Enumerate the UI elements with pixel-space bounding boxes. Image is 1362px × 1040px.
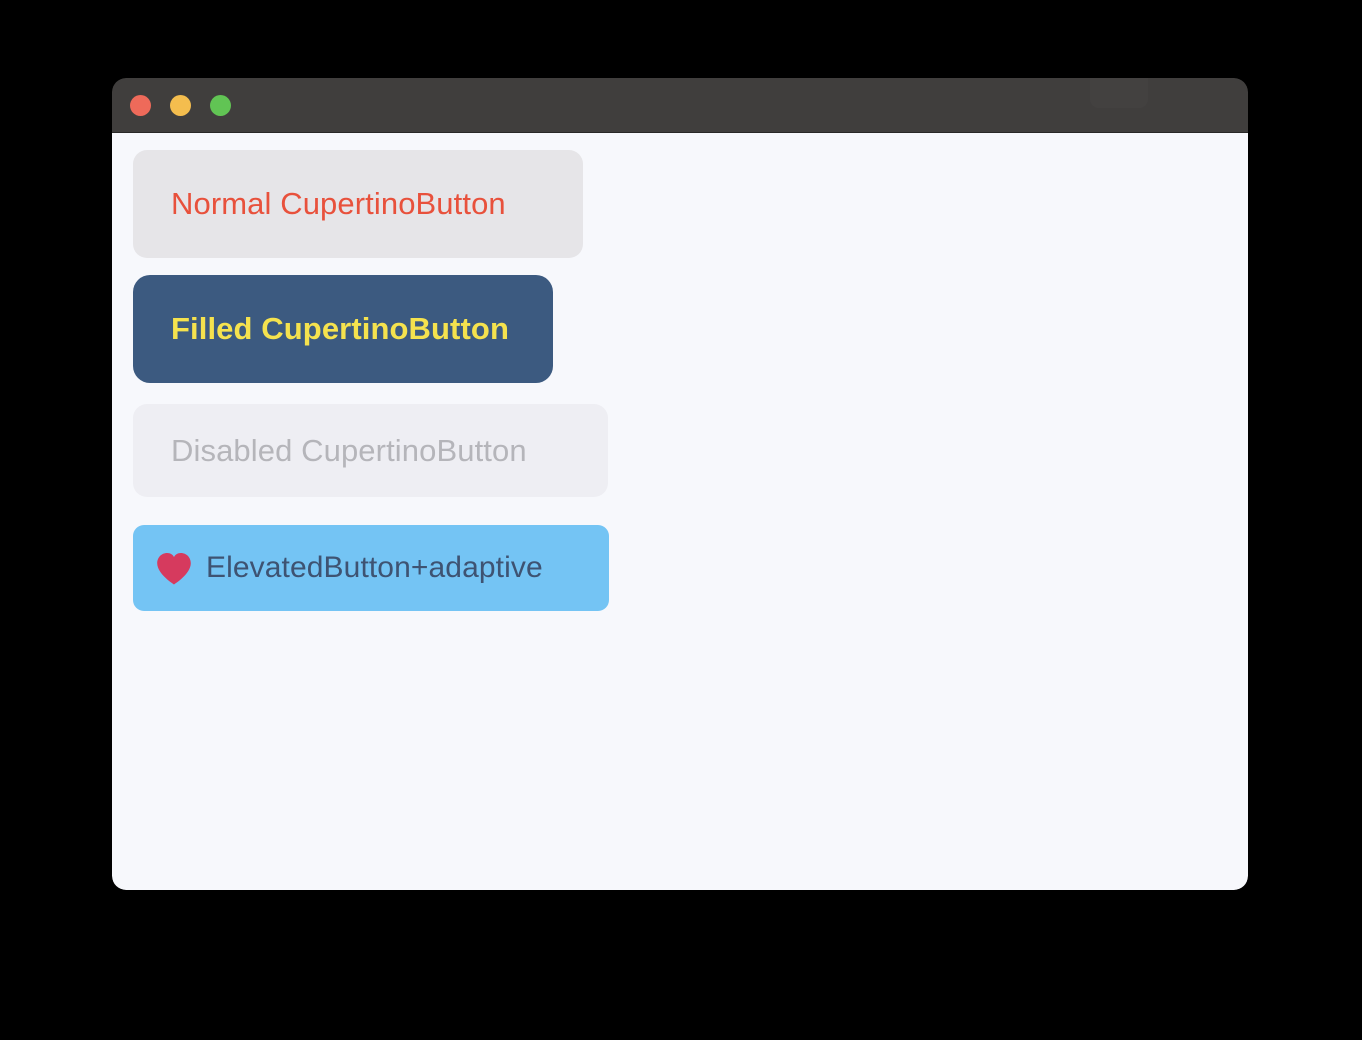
minimize-window-button[interactable] [170,95,191,116]
heart-icon [156,550,192,586]
normal-cupertino-button[interactable]: Normal CupertinoButton [133,150,583,258]
disabled-cupertino-button-label: Disabled CupertinoButton [171,433,527,469]
titlebar-ghost-region [1090,78,1148,108]
close-window-button[interactable] [130,95,151,116]
disabled-cupertino-button: Disabled CupertinoButton [133,404,608,497]
filled-cupertino-button-label: Filled CupertinoButton [171,311,509,347]
elevated-adaptive-button-label: ElevatedButton+adaptive [206,551,543,585]
normal-cupertino-button-label: Normal CupertinoButton [171,186,506,222]
maximize-window-button[interactable] [210,95,231,116]
app-window: Normal CupertinoButton Filled CupertinoB… [112,78,1248,890]
window-controls [130,95,231,116]
window-content: Normal CupertinoButton Filled CupertinoB… [112,133,1248,890]
window-titlebar[interactable] [112,78,1248,133]
elevated-adaptive-button[interactable]: ElevatedButton+adaptive [133,525,609,611]
filled-cupertino-button[interactable]: Filled CupertinoButton [133,275,553,383]
screen-root: Normal CupertinoButton Filled CupertinoB… [0,0,1362,1040]
